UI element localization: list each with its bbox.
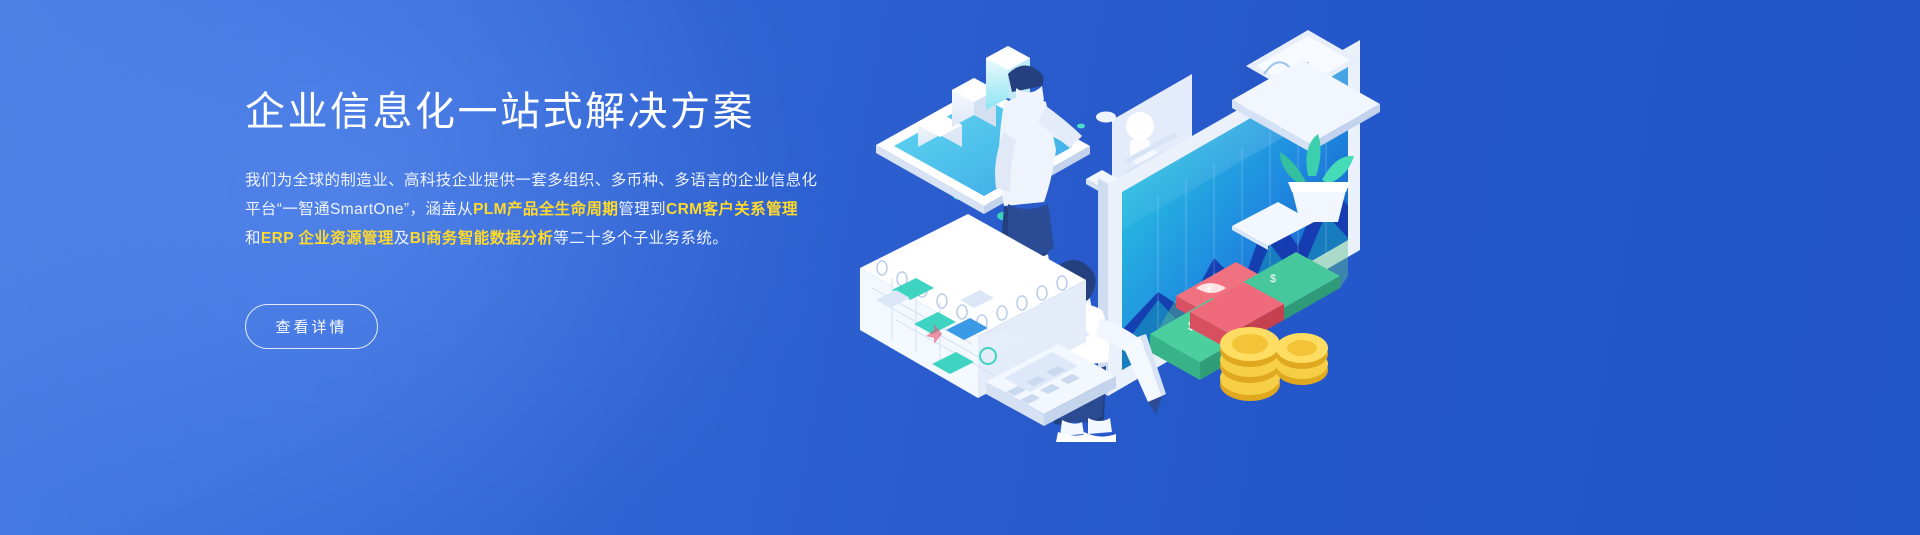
gold-coin-stacks xyxy=(1220,327,1328,401)
highlighted-term: PLM产品全生命周期 xyxy=(473,201,618,218)
svg-text:¥: ¥ xyxy=(1205,283,1213,295)
hero-copy: 企业信息化一站式解决方案 我们为全球的制造业、高科技企业提供一套多组织、多币种、… xyxy=(245,86,865,253)
page-title: 企业信息化一站式解决方案 xyxy=(245,86,865,138)
paragraph-text: 管理到 xyxy=(618,201,666,218)
highlighted-term: BI商务智能数据分析 xyxy=(410,230,554,247)
highlighted-term: ERP 企业资源管理 xyxy=(261,230,394,247)
hero-banner: 企业信息化一站式解决方案 我们为全球的制造业、高科技企业提供一套多组织、多币种、… xyxy=(0,0,1920,535)
paragraph-line-2: 平台“一智通SmartOne”，涵盖从PLM产品全生命周期管理到CRM客户关系管… xyxy=(245,195,865,224)
paragraph-text: 和 xyxy=(245,230,261,247)
view-details-button[interactable]: 查看详情 xyxy=(245,304,378,349)
paragraph-text: 等二十多个子业务系统。 xyxy=(553,230,728,247)
paragraph-text: 及 xyxy=(394,230,410,247)
paragraph-text: 平台“一智通SmartOne”，涵盖从 xyxy=(245,201,473,218)
view-details-label: 查看详情 xyxy=(275,316,347,337)
hero-illustration: ¥ $ $ xyxy=(840,0,1400,535)
paragraph-line-3: 和ERP 企业资源管理及BI商务智能数据分析等二十多个子业务系统。 xyxy=(245,224,865,253)
highlighted-term: CRM客户关系管理 xyxy=(666,201,798,218)
hero-paragraph: 我们为全球的制造业、高科技企业提供一套多组织、多币种、多语言的企业信息化 平台“… xyxy=(245,166,865,253)
paragraph-text: 我们为全球的制造业、高科技企业提供一套多组织、多币种、多语言的企业信息化 xyxy=(245,172,817,189)
background-glow xyxy=(0,0,900,535)
paragraph-line-1: 我们为全球的制造业、高科技企业提供一套多组织、多币种、多语言的企业信息化 xyxy=(245,166,865,195)
svg-text:$: $ xyxy=(1270,273,1276,285)
